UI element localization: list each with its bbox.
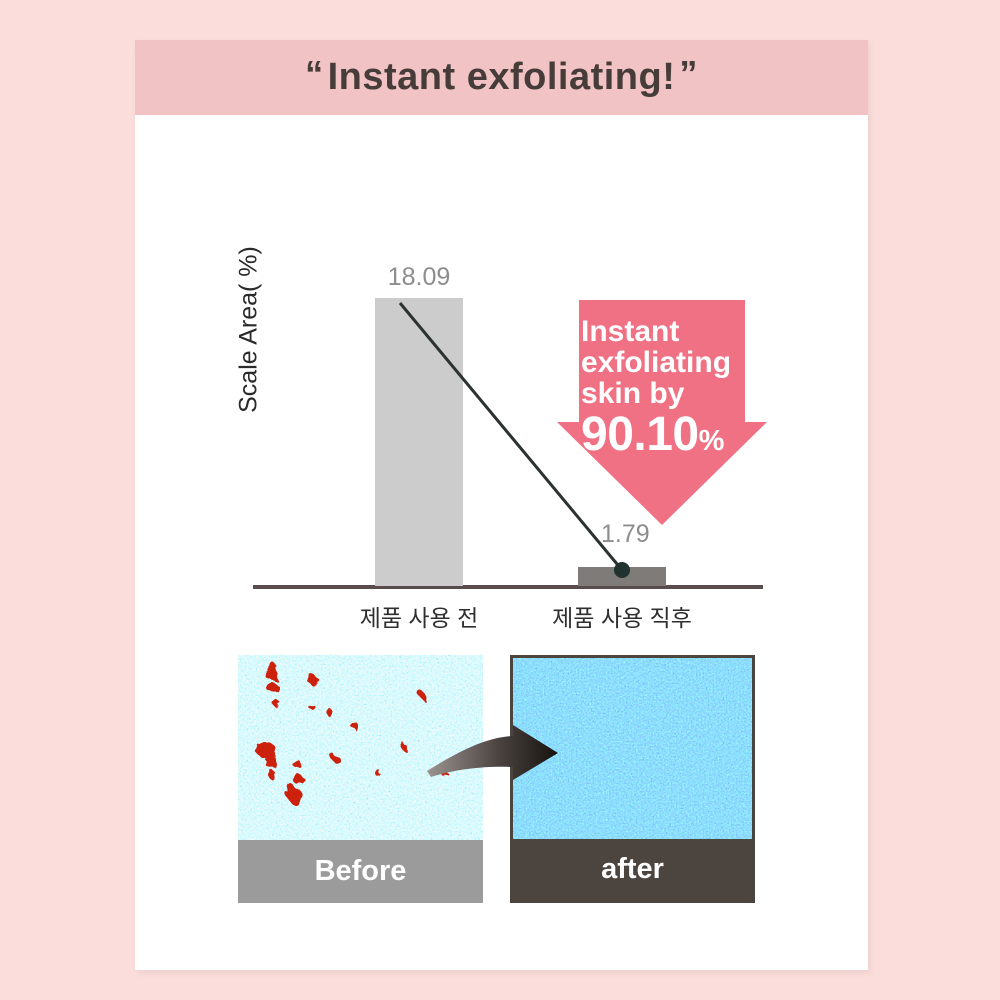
bar-value-before: 18.09 [357, 263, 481, 292]
callout-line-1: Instant [581, 316, 761, 347]
callout-line-2: exfoliating [581, 347, 761, 378]
photo-before-image [238, 655, 483, 840]
photo-caption-after: after [513, 839, 752, 900]
content-card: “Instant exfoliating!” Scale Area( %) 18… [135, 40, 868, 970]
photo-caption-before: Before [238, 840, 483, 903]
callout-text: Instant exfoliating skin by 90.10% [581, 316, 761, 459]
bar-after [578, 567, 666, 586]
x-axis-line [253, 585, 763, 589]
x-tick-label-after: 제품 사용 직후 [522, 599, 722, 633]
skin-scan-after-icon [513, 658, 752, 839]
callout-percent-sign: % [699, 426, 725, 456]
x-tick-label-before: 제품 사용 전 [319, 599, 519, 633]
before-after-photos: Before after [135, 655, 868, 915]
bar-before [375, 298, 463, 586]
photo-before: Before [238, 655, 483, 903]
title-text: Instant exfoliating! [328, 56, 676, 98]
bar-chart: Scale Area( %) 18.09 1.79 제품 사용 전 제품 사용 … [135, 115, 868, 635]
callout-big-number: 90.10 [581, 410, 699, 460]
callout-line-3: skin by [581, 378, 761, 409]
skin-scan-before-icon [238, 655, 483, 840]
photo-after-image [513, 658, 752, 839]
open-quote: “ [301, 53, 328, 94]
close-quote: ” [675, 53, 702, 94]
callout-arrow: Instant exfoliating skin by 90.10% [557, 300, 767, 525]
y-axis-label: Scale Area( %) [235, 210, 264, 450]
title-banner: “Instant exfoliating!” [135, 40, 868, 115]
page-title: “Instant exfoliating!” [301, 56, 702, 99]
photo-after: after [510, 655, 755, 903]
